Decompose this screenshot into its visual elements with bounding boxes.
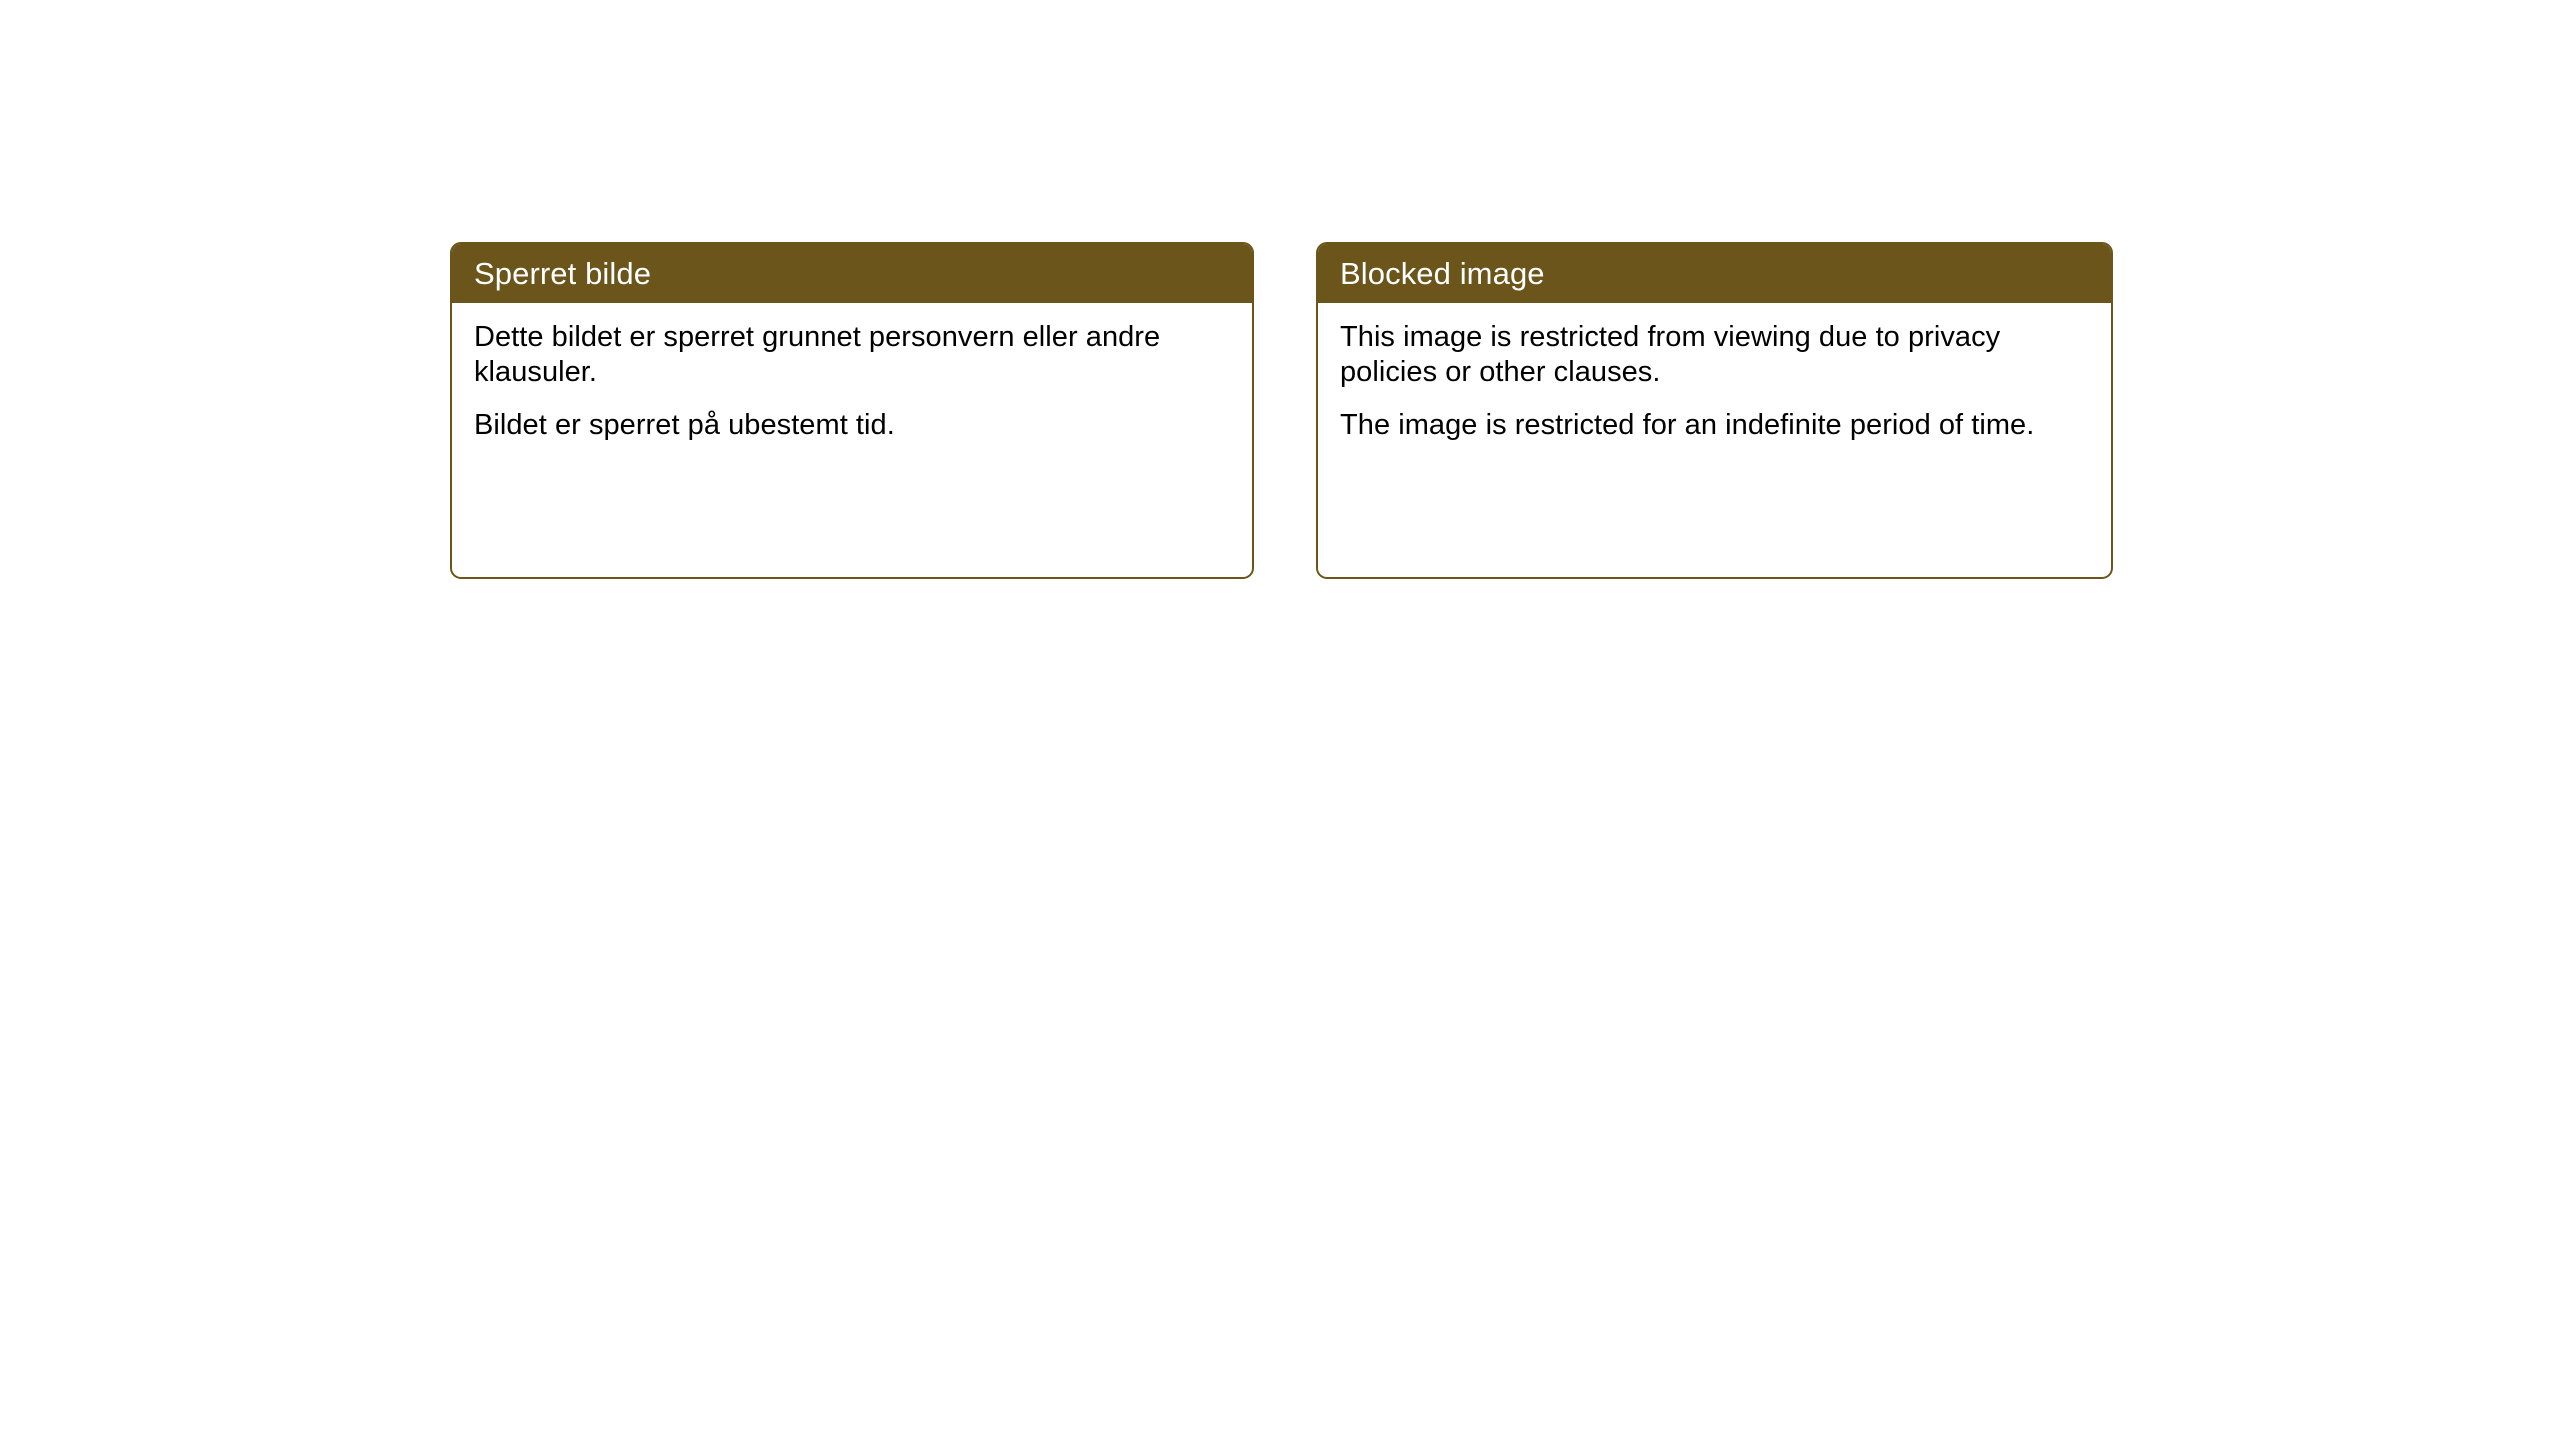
blocked-image-notice-norwegian: Sperret bilde Dette bildet er sperret gr… (450, 242, 1254, 579)
notice-paragraph-primary-english: This image is restricted from viewing du… (1340, 320, 2091, 390)
notice-body-norwegian: Dette bildet er sperret grunnet personve… (452, 303, 1252, 443)
blocked-image-notice-english: Blocked image This image is restricted f… (1316, 242, 2113, 579)
notice-body-english: This image is restricted from viewing du… (1318, 303, 2111, 443)
notice-paragraph-secondary-english: The image is restricted for an indefinit… (1340, 408, 2091, 443)
notice-title-english: Blocked image (1340, 258, 1545, 289)
paragraph-spacer (474, 390, 1232, 408)
notice-header-norwegian: Sperret bilde (452, 244, 1252, 303)
notice-paragraph-primary-norwegian: Dette bildet er sperret grunnet personve… (474, 320, 1232, 390)
page-canvas: Sperret bilde Dette bildet er sperret gr… (0, 0, 2560, 1440)
notice-header-english: Blocked image (1318, 244, 2111, 303)
paragraph-spacer (1340, 390, 2091, 408)
notice-title-norwegian: Sperret bilde (474, 258, 651, 289)
notice-paragraph-secondary-norwegian: Bildet er sperret på ubestemt tid. (474, 408, 1232, 443)
